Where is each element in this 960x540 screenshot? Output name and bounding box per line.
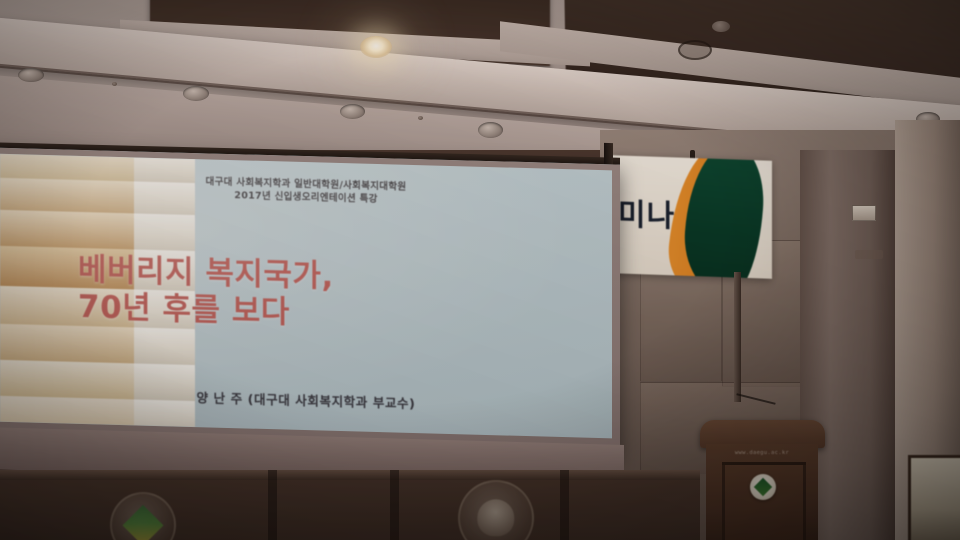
wall-divider-2 [390, 470, 399, 540]
ceiling-dot-1 [112, 82, 117, 86]
sprinkler-icon [678, 40, 712, 60]
wall-fixture-plate [855, 250, 883, 259]
book-pages [0, 210, 140, 250]
downlight-1-icon [18, 68, 44, 82]
ceiling-dot-2 [418, 116, 423, 120]
lower-wall [0, 470, 700, 540]
projection-screen: 대구대 사회복지학과 일반대학원/사회복지대학원 2017년 신입생오리엔테이션… [0, 147, 620, 456]
wall-banner: 미나 [612, 155, 772, 279]
smoke-detector-icon [712, 21, 730, 32]
seal-diamond [123, 505, 163, 540]
banner-text: 미나 [618, 189, 675, 235]
downlight-bright-icon [360, 36, 392, 58]
book-fore-edge [134, 327, 195, 365]
podium-url-text: www.daegu.ac.kr [712, 450, 812, 456]
crest-shield [477, 499, 514, 536]
book-fore-edge [134, 213, 195, 251]
downlight-3-icon [340, 104, 365, 119]
book-pages [0, 324, 140, 364]
conference-room-photo: 미나 [0, 0, 960, 540]
downlight-4-icon [478, 122, 503, 138]
presentation-slide: 대구대 사회복지학과 일반대학원/사회복지대학원 2017년 신입생오리엔테이션… [0, 154, 612, 439]
podium-emblem-icon [750, 474, 776, 500]
wall-sign-plate [852, 205, 876, 221]
podium-emblem-diamond [754, 478, 772, 496]
slide-title: 베버리지 복지국가, 70년 후를 보다 [78, 252, 578, 340]
downlight-2-icon [183, 86, 209, 101]
wall-divider-3 [560, 470, 569, 540]
wall-divider-1 [268, 470, 277, 540]
lower-wall-trim [0, 470, 700, 480]
banner-pole [734, 272, 741, 402]
side-window [908, 455, 960, 540]
